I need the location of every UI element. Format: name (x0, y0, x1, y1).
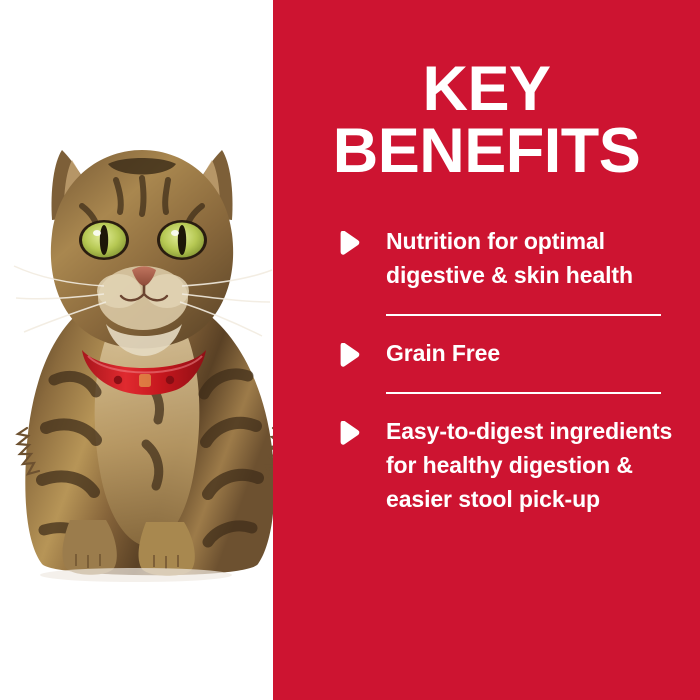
spacer (273, 394, 700, 414)
spacer (273, 316, 700, 336)
benefit-item-2: Grain Free (273, 336, 700, 370)
benefit-text: Easy-to-digest ingredients for healthy d… (386, 414, 673, 516)
play-triangle-icon (338, 231, 360, 255)
play-triangle-icon (338, 421, 360, 445)
cat-head (14, 150, 272, 356)
cat-photo-pane (0, 0, 273, 700)
play-triangle-icon (338, 343, 360, 367)
benefit-item-3: Easy-to-digest ingredients for healthy d… (273, 414, 700, 516)
product-key-benefits-banner: KEY BENEFITS Nutrition for optimal diges… (0, 0, 700, 700)
cat-image (0, 128, 273, 588)
benefits-list: Nutrition for optimal digestive & skin h… (273, 224, 700, 516)
page-title: KEY BENEFITS (273, 58, 700, 183)
benefit-text: Nutrition for optimal digestive & skin h… (386, 224, 673, 292)
benefit-text: Grain Free (386, 336, 673, 370)
benefits-panel: KEY BENEFITS Nutrition for optimal diges… (273, 0, 700, 700)
spacer (273, 292, 700, 314)
benefit-item-1: Nutrition for optimal digestive & skin h… (273, 224, 700, 292)
spacer (273, 370, 700, 392)
